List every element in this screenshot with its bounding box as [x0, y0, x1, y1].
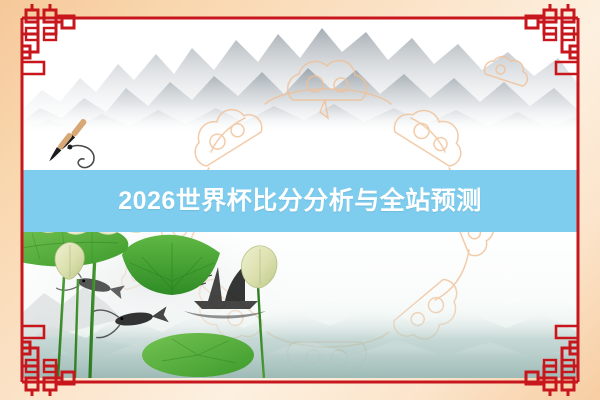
poster-canvas: 2026世界杯比分分析与全站预测 — [0, 0, 600, 400]
title-banner: 2026世界杯比分分析与全站预测 — [22, 170, 578, 232]
page-title: 2026世界杯比分分析与全站预测 — [118, 189, 482, 214]
poster-paper: 2026世界杯比分分析与全站预测 — [22, 18, 578, 378]
lily-pad-motif — [142, 333, 254, 377]
